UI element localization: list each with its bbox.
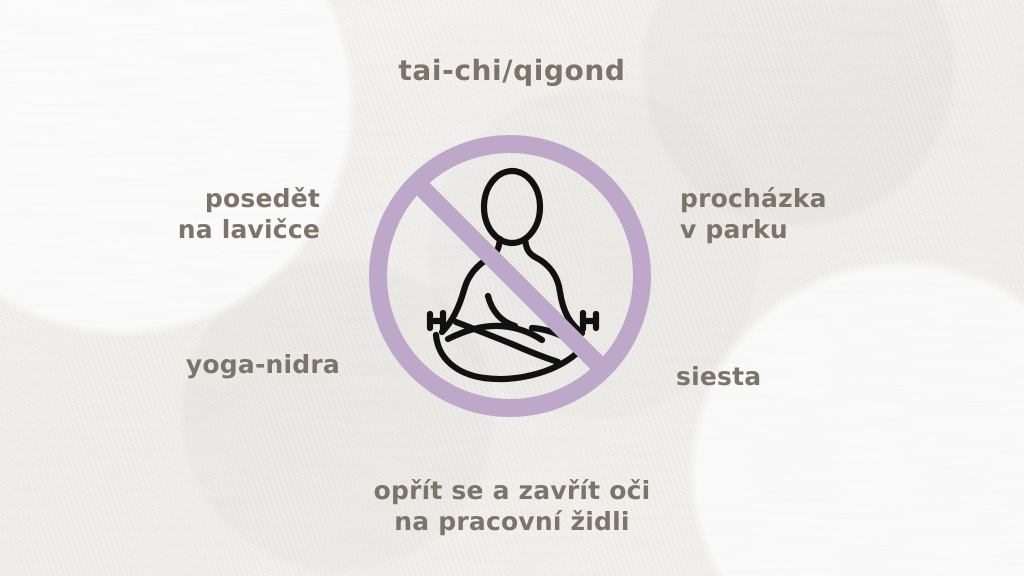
label-lean-back-close-eyes: opřít se a zavřít oči na pracovní židli <box>0 476 1024 537</box>
no-meditation-graphic <box>360 126 660 426</box>
label-walk-in-park: procházka v parku <box>680 184 827 245</box>
figure-right-hand-icon <box>583 313 596 329</box>
figure-left-hand-icon <box>430 313 443 329</box>
label-siesta: siesta <box>676 362 761 393</box>
figure-lap-line-path <box>488 296 515 326</box>
label-tai-chi-qigong: tai-chi/qigond <box>0 54 1024 88</box>
figure-head-icon <box>484 171 540 243</box>
slide-canvas: tai-chi/qigond posedět na lavičce prochá… <box>0 0 1024 576</box>
label-sit-on-bench: posedět na lavičce <box>178 184 320 245</box>
label-yoga-nidra: yoga-nidra <box>186 350 340 381</box>
